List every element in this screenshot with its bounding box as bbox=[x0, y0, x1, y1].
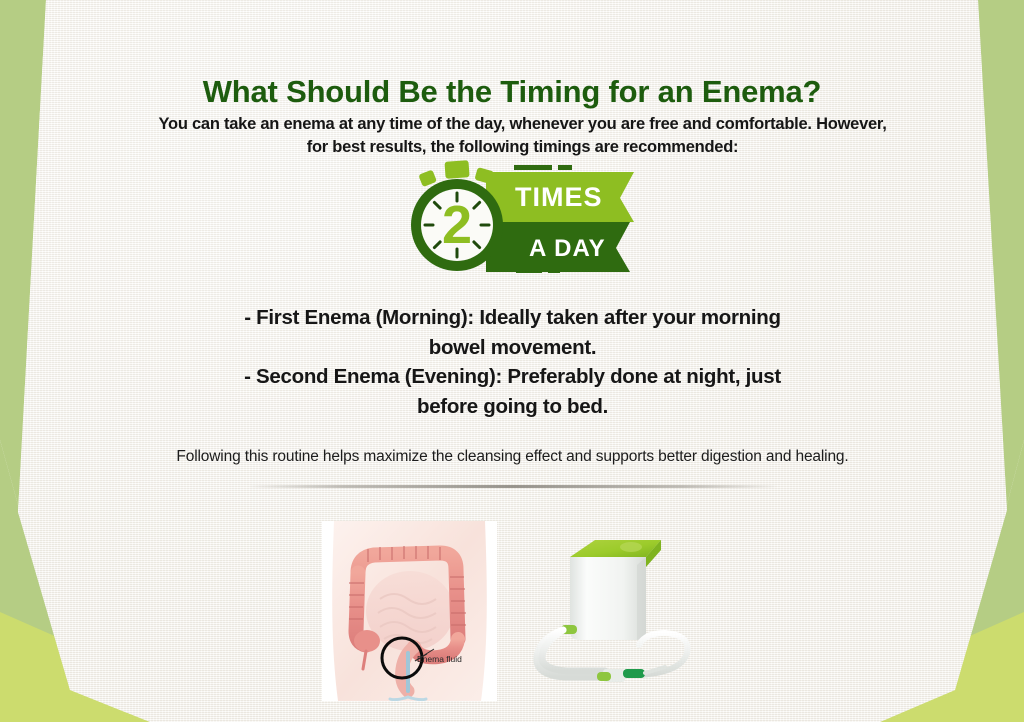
kit-lid-front bbox=[570, 540, 661, 557]
badge-caption: 2 TIMES A DAY bbox=[398, 156, 648, 280]
enema-fluid-callout-label: Enema fluid bbox=[417, 654, 462, 664]
page-subtitle: You can take an enema at any time of the… bbox=[150, 113, 895, 160]
enema-kit-graphic bbox=[525, 517, 715, 697]
badge-number: 2 bbox=[426, 194, 488, 256]
kit-nozzle-tip bbox=[623, 669, 645, 678]
bullet-line-1: - First Enema (Morning): Ideally taken a… bbox=[170, 303, 855, 333]
colon-anatomy-diagram: Enema fluid bbox=[322, 521, 497, 701]
bullet-line-4: before going to bed. bbox=[170, 392, 855, 422]
infographic-canvas: What Should Be the Timing for an Enema? … bbox=[0, 0, 1024, 722]
section-divider bbox=[248, 485, 778, 488]
badge-times-label: TIMES bbox=[515, 182, 635, 213]
page-title: What Should Be the Timing for an Enema? bbox=[0, 75, 1024, 109]
timing-bullets: - First Enema (Morning): Ideally taken a… bbox=[170, 303, 855, 421]
bullet-line-2: bowel movement. bbox=[170, 333, 855, 363]
closing-paragraph: Following this routine helps maximize th… bbox=[110, 446, 915, 468]
kit-container-body bbox=[570, 557, 646, 640]
two-times-a-day-badge: 2 TIMES A DAY bbox=[398, 156, 648, 280]
content-layer: What Should Be the Timing for an Enema? … bbox=[0, 0, 1024, 722]
colon-anatomy-graphic bbox=[322, 521, 497, 701]
bullet-line-3: - Second Enema (Evening): Preferably don… bbox=[170, 362, 855, 392]
badge-a-day-label: A DAY bbox=[529, 235, 649, 263]
enema-kit-photo bbox=[525, 517, 715, 697]
